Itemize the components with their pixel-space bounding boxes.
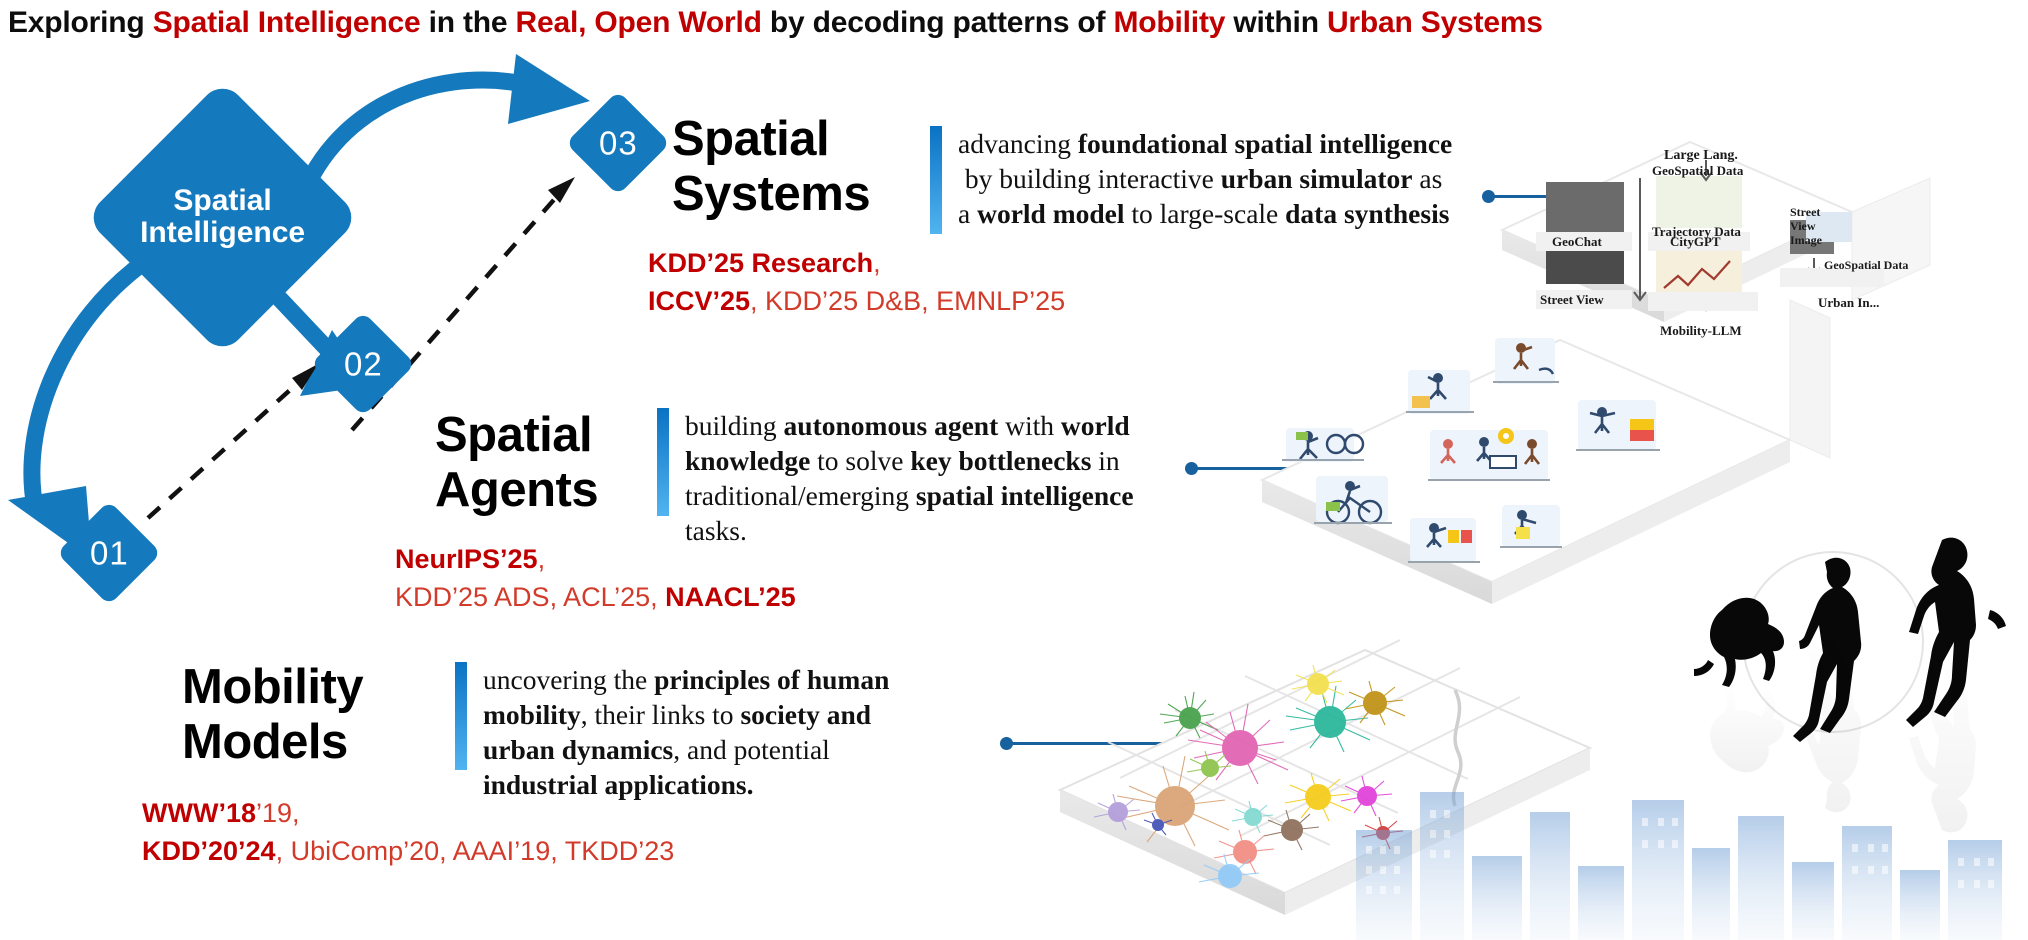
section-03-venue-rest-1: , (873, 248, 881, 278)
connector-line-02 (1195, 467, 1393, 470)
pipeline-label-trajectory-data: Trajectory Data (1652, 224, 1741, 240)
section-01-venue-bold-1: WWW’18 (142, 798, 256, 828)
title-highlight: Mobility (1114, 6, 1226, 39)
pipeline-label-street-view-image: Street View Image (1790, 205, 1848, 247)
section-02-venues: NeurIPS’25, KDD’25 ADS, ACL’25, NAACL’25 (395, 540, 796, 616)
hub-label: Spatial Intelligence (140, 185, 305, 250)
arrow-hub-to-01 (8, 258, 150, 560)
section-01-heading: Mobility Models (182, 660, 363, 770)
bottom-slab-mobility-map (1060, 640, 1590, 915)
pipeline-label-geospatial-data-2: GeoSpatial Data (1824, 258, 1908, 273)
title-plain: within (1225, 6, 1327, 39)
human-evolution-silhouettes (1694, 538, 2006, 833)
section-02-heading: Spatial Agents (435, 408, 598, 518)
section-02-venue-bold-tail: NAACL’25 (665, 582, 796, 612)
title-highlight: Real, Open World (516, 6, 762, 39)
section-03-heading: Spatial Systems (672, 112, 870, 222)
section-02-venue-bold-1: NeurIPS’25 (395, 544, 538, 574)
section-01-venue-bold-2: KDD’20’24 (142, 836, 276, 866)
evolution-figure-human (1906, 538, 2006, 727)
section-02-description: building autonomous agent with world kno… (685, 408, 1177, 548)
city-skyline (1356, 792, 2002, 940)
section-01-venue-line-2: KDD’20’24, UbiComp’20, AAAI’19, TKDD’23 (142, 832, 674, 870)
node-badge-02[interactable]: 02 (311, 312, 416, 417)
activity-scenes (1282, 338, 1660, 562)
pipeline-label-geochat: GeoChat (1552, 234, 1602, 250)
section-03-venue-line-1: KDD’25 Research, (648, 244, 1065, 282)
title-plain: Exploring (8, 6, 153, 39)
title-highlight: Urban Systems (1327, 6, 1543, 39)
section-01-description-block: uncovering the principles of human mobil… (455, 662, 905, 802)
pipeline-label-geospatial-data: GeoSpatial Data (1652, 163, 1743, 179)
arrow-hub-to-03 (298, 54, 590, 208)
pipeline-label-large-language: Large Lang. (1664, 148, 1738, 164)
section-03-description-block: advancing foundational spatial intellige… (930, 126, 1460, 234)
title-highlight: Spatial Intelligence (153, 6, 421, 39)
pipeline-label-street-view: Street View (1540, 292, 1604, 308)
section-01-venue-rest-2: , UbiComp’20, AAAI’19, TKDD’23 (276, 836, 675, 866)
evolution-figure-hominid (1793, 558, 1861, 742)
section-03-venue-line-2: ICCV’25, KDD’25 D&B, EMNLP’25 (648, 282, 1065, 320)
section-01-heading-block: Mobility Models (182, 660, 363, 770)
section-03-venue-bold-1: KDD’25 Research (648, 248, 873, 278)
dashed-arrow-01-to-02 (148, 364, 318, 518)
node-number-03: 03 (599, 125, 638, 161)
section-01-description: uncovering the principles of human mobil… (483, 662, 905, 802)
pipeline-label-mobility-llm: Mobility-LLM (1660, 323, 1742, 339)
title-plain: in the (420, 6, 515, 39)
section-01-accent-bar (455, 662, 467, 770)
section-03-accent-bar (930, 126, 942, 234)
node-badge-01[interactable]: 01 (57, 501, 162, 606)
middle-slab-activities (1262, 300, 1830, 604)
section-03-heading-block: Spatial Systems (672, 112, 870, 222)
title-plain: by decoding patterns of (762, 6, 1114, 39)
node-number-02: 02 (344, 346, 383, 382)
section-03-venue-bold-2: ICCV’25 (648, 286, 750, 316)
section-01-venues: WWW’18’19, KDD’20’24, UbiComp’20, AAAI’1… (142, 794, 674, 870)
poster-canvas: Exploring Spatial Intelligence in the Re… (0, 0, 2028, 940)
section-02-description-block: building autonomous agent with world kno… (657, 408, 1177, 548)
connector-line-03 (1492, 195, 1740, 198)
page-title: Exploring Spatial Intelligence in the Re… (8, 2, 2022, 44)
section-03-venue-rest-2: , KDD’25 D&B, EMNLP’25 (750, 286, 1065, 316)
node-number-01: 01 (90, 535, 129, 571)
section-02-accent-bar (657, 408, 669, 516)
section-03-description: advancing foundational spatial intellige… (958, 126, 1460, 234)
section-02-venue-rest-2: KDD’25 ADS, ACL’25, (395, 582, 665, 612)
section-01-venue-rest-1: ’19, (256, 798, 300, 828)
flow-clusters (1094, 665, 1405, 888)
node-badge-03[interactable]: 03 (566, 91, 671, 196)
pipeline-label-urban-in: Urban In... (1818, 295, 1879, 311)
section-02-venue-line-2: KDD’25 ADS, ACL’25, NAACL’25 (395, 578, 796, 616)
hub-node-spatial-intelligence[interactable]: Spatial Intelligence (85, 80, 361, 356)
connector-line-01 (1010, 742, 1350, 745)
section-03-venues: KDD’25 Research, ICCV’25, KDD’25 D&B, EM… (648, 244, 1065, 320)
evolution-figure-ape (1694, 598, 1784, 687)
section-02-heading-block: Spatial Agents (435, 408, 598, 518)
section-02-venue-rest-1: , (538, 544, 546, 574)
